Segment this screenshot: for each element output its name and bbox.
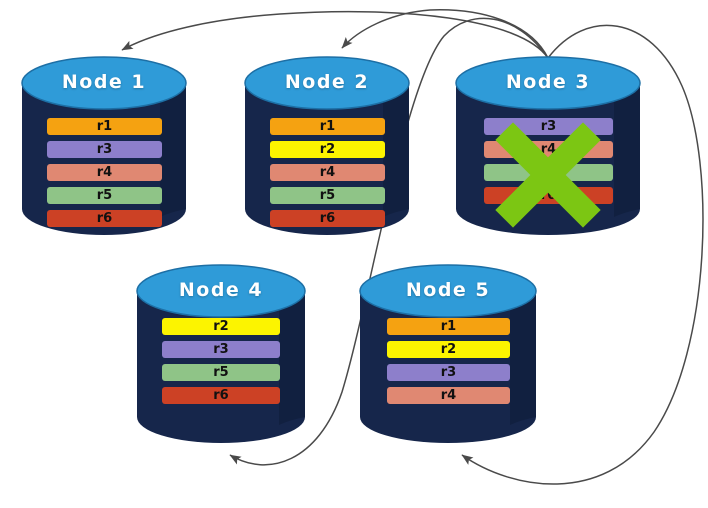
node-label: Node 1 [22,71,186,93]
replica-bar[interactable]: r4 [387,387,510,404]
replica-bar[interactable]: r2 [387,341,510,358]
replica-bar[interactable]: r6 [47,210,162,227]
node-label: Node 4 [137,279,305,301]
database-node-4[interactable]: Node 4r2r3r5r6 [137,265,305,443]
replica-bar[interactable]: r1 [387,318,510,335]
replication-edge [342,10,548,58]
database-node-1[interactable]: Node 1r1r3r4r5r6 [22,57,186,235]
replica-bar[interactable]: r1 [270,118,385,135]
database-node-2[interactable]: Node 2r1r2r4r5r6 [245,57,409,235]
replica-bar[interactable]: r5 [47,187,162,204]
replica-bar[interactable]: r4 [47,164,162,181]
replica-bar[interactable]: r4 [270,164,385,181]
node-label: Node 2 [245,71,409,93]
database-node-5[interactable]: Node 5r1r2r3r4 [360,265,536,443]
replica-bar[interactable]: r2 [162,318,280,335]
replication-edge [122,12,548,58]
replica-bar[interactable]: r3 [387,364,510,381]
database-node-3[interactable]: Node 3r3r4r5r6 [456,57,640,235]
replica-bar[interactable]: r2 [270,141,385,158]
diagram-canvas: Node 1r1r3r4r5r6Node 2r1r2r4r5r6Node 3r3… [0,0,708,508]
replica-bar[interactable]: r6 [270,210,385,227]
replica-bar[interactable]: r3 [162,341,280,358]
replica-bar[interactable]: r1 [47,118,162,135]
node-label: Node 5 [360,279,536,301]
replica-bar[interactable]: r3 [47,141,162,158]
replica-bar[interactable]: r6 [162,387,280,404]
node-failure-x-icon [456,57,640,235]
replica-bar[interactable]: r5 [270,187,385,204]
replica-bar[interactable]: r5 [162,364,280,381]
